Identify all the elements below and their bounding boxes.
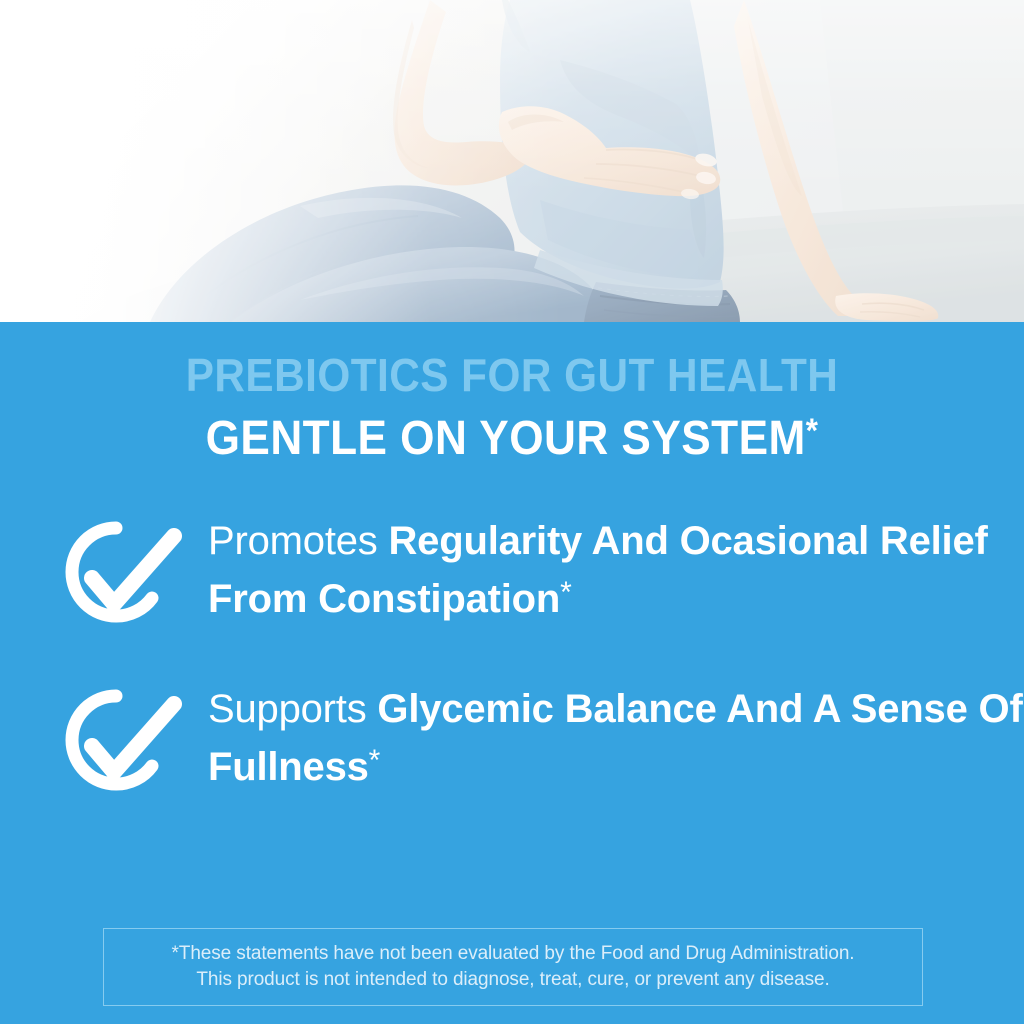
benefit-asterisk: * [560,576,571,609]
check-circle-icon-glyph [62,682,186,800]
disclaimer-line-2: This product is not intended to diagnose… [196,967,829,993]
benefit-lead: Supports [208,687,377,731]
hero-photo [0,0,1024,322]
headline-block: PREBIOTICS FOR GUT HEALTH GENTLE ON YOUR… [0,350,1024,467]
abdominal-discomfort-photo [0,0,1024,322]
benefit-text: Supports Glycemic Balance And A Sense Of… [186,680,1024,793]
benefit-list: Promotes Regularity And Ocasional Relief… [0,512,1024,848]
fda-disclaimer-box: *These statements have not been evaluate… [103,928,923,1006]
headline-title-text: GENTLE ON YOUR SYSTEM [206,412,806,465]
check-circle-icon [62,514,186,632]
disclaimer-line-1: *These statements have not been evaluate… [172,941,855,967]
benefit-item: Supports Glycemic Balance And A Sense Of… [0,680,1024,800]
benefit-text: Promotes Regularity And Ocasional Relief… [186,512,1024,625]
check-circle-icon-glyph [62,514,186,632]
check-circle-icon [62,682,186,800]
headline-subtitle: PREBIOTICS FOR GUT HEALTH [41,350,983,400]
headline-asterisk: * [806,412,819,450]
benefit-lead: Promotes [208,519,389,563]
headline-title: GENTLE ON YOUR SYSTEM* [41,403,983,467]
benefit-asterisk: * [369,744,380,777]
benefit-item: Promotes Regularity And Ocasional Relief… [0,512,1024,632]
blue-content-panel: PREBIOTICS FOR GUT HEALTH GENTLE ON YOUR… [0,322,1024,1024]
promo-graphic: PREBIOTICS FOR GUT HEALTH GENTLE ON YOUR… [0,0,1024,1024]
